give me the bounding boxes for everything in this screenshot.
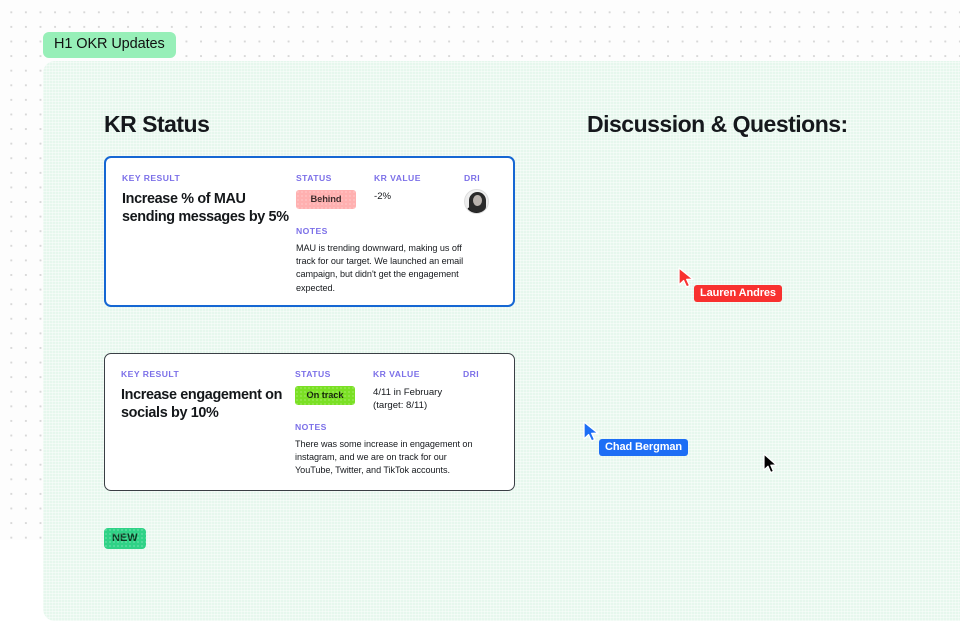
kr-card-1-key-result-column: KEY RESULT Increase % of MAU sending mes… <box>122 173 294 226</box>
mouse-pointer-icon <box>763 453 779 475</box>
kr-card-2[interactable]: KEY RESULT Increase engagement on social… <box>104 353 515 491</box>
kr-card-2-value-column: KR VALUE 4/11 in February (target: 8/11) <box>373 369 457 413</box>
label-status: STATUS <box>295 369 355 379</box>
kr-card-1-status-badge[interactable]: Behind <box>296 190 356 209</box>
cursor-arrow-icon <box>583 421 601 443</box>
bottom-status-chip[interactable]: NEW <box>104 528 146 549</box>
kr-card-2-notes: There was some increase in engagement on… <box>295 438 479 478</box>
label-kr-value: KR VALUE <box>374 173 458 183</box>
frame-title-label[interactable]: H1 OKR Updates <box>43 32 176 58</box>
kr-card-1-title: Increase % of MAU sending messages by 5% <box>122 190 294 226</box>
kr-card-2-notes-block: NOTES There was some increase in engagem… <box>295 422 479 478</box>
kr-card-1-status-column: STATUS Behind <box>296 173 356 209</box>
kr-card-1[interactable]: KEY RESULT Increase % of MAU sending mes… <box>104 156 515 307</box>
kr-card-2-title: Increase engagement on socials by 10% <box>121 386 293 422</box>
kr-card-2-value: 4/11 in February (target: 8/11) <box>373 387 457 413</box>
mouse-pointer <box>763 453 779 480</box>
label-key-result: KEY RESULT <box>122 173 294 183</box>
kr-card-2-dri-column: DRI <box>463 369 479 379</box>
kr-card-1-dri-column: DRI <box>464 173 489 214</box>
label-key-result: KEY RESULT <box>121 369 293 379</box>
kr-card-1-value: -2% <box>374 191 458 204</box>
label-dri: DRI <box>464 173 489 183</box>
slide-frame[interactable]: KR Status Discussion & Questions: KEY RE… <box>43 61 960 621</box>
kr-card-2-key-result-column: KEY RESULT Increase engagement on social… <box>121 369 293 422</box>
kr-card-1-value-column: KR VALUE -2% <box>374 173 458 204</box>
kr-card-2-status-column: STATUS On track <box>295 369 355 405</box>
label-notes: NOTES <box>295 422 479 432</box>
kr-card-1-notes-block: NOTES MAU is trending downward, making u… <box>296 226 480 295</box>
collaborator-name-lauren: Lauren Andres <box>694 285 782 302</box>
collaborator-name-chad: Chad Bergman <box>599 439 688 456</box>
page-title-kr-status: KR Status <box>104 111 209 138</box>
label-dri: DRI <box>463 369 479 379</box>
cursor-arrow-icon <box>678 267 696 289</box>
label-notes: NOTES <box>296 226 480 236</box>
page-title-discussion: Discussion & Questions: <box>587 111 848 138</box>
kr-card-1-notes: MAU is trending downward, making us off … <box>296 242 480 295</box>
avatar[interactable] <box>464 189 489 214</box>
label-status: STATUS <box>296 173 356 183</box>
label-kr-value: KR VALUE <box>373 369 457 379</box>
kr-card-2-status-badge[interactable]: On track <box>295 386 355 405</box>
